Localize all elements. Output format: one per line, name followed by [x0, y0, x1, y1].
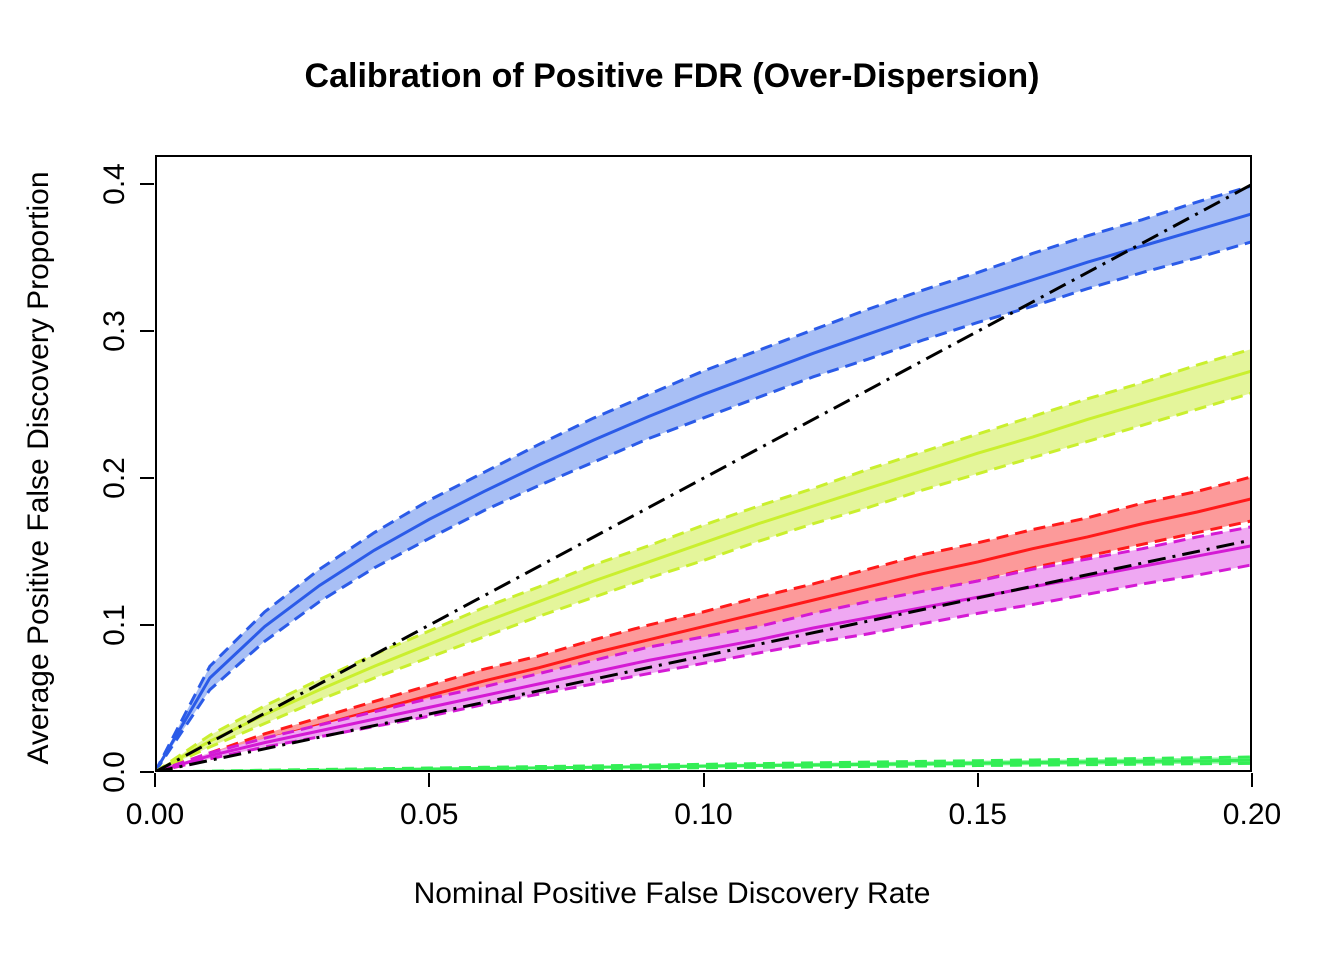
chart-page: Calibration of Positive FDR (Over-Disper… — [0, 0, 1344, 960]
x-tick-label: 0.00 — [85, 798, 225, 832]
x-tick-mark — [977, 773, 979, 787]
plot-canvas — [155, 155, 1252, 772]
y-tick-mark — [140, 477, 154, 479]
x-tick-mark — [703, 773, 705, 787]
page-title: Calibration of Positive FDR (Over-Disper… — [0, 57, 1344, 96]
y-tick-label: 0.2 — [98, 438, 132, 518]
series-magenta-method — [155, 527, 1252, 772]
y-tick-mark — [140, 330, 154, 332]
identity-reference-line-upper — [155, 184, 1252, 772]
x-tick-mark — [154, 773, 156, 787]
plot-area — [155, 155, 1252, 772]
x-axis-label: Nominal Positive False Discovery Rate — [0, 877, 1344, 911]
x-tick-label: 0.10 — [634, 798, 774, 832]
y-tick-mark — [140, 183, 154, 185]
x-tick-label: 0.05 — [359, 798, 499, 832]
x-tick-mark — [428, 773, 430, 787]
x-tick-label: 0.20 — [1182, 798, 1322, 832]
y-tick-label: 0.4 — [98, 144, 132, 224]
y-axis-label: Average Positive False Discovery Proport… — [22, 148, 56, 788]
y-tick-mark — [140, 624, 154, 626]
x-tick-mark — [1251, 773, 1253, 787]
y-tick-label: 0.1 — [98, 585, 132, 665]
series-green-method — [155, 757, 1252, 772]
x-tick-label: 0.15 — [908, 798, 1048, 832]
y-tick-mark — [140, 771, 154, 773]
y-tick-label: 0.3 — [98, 291, 132, 371]
